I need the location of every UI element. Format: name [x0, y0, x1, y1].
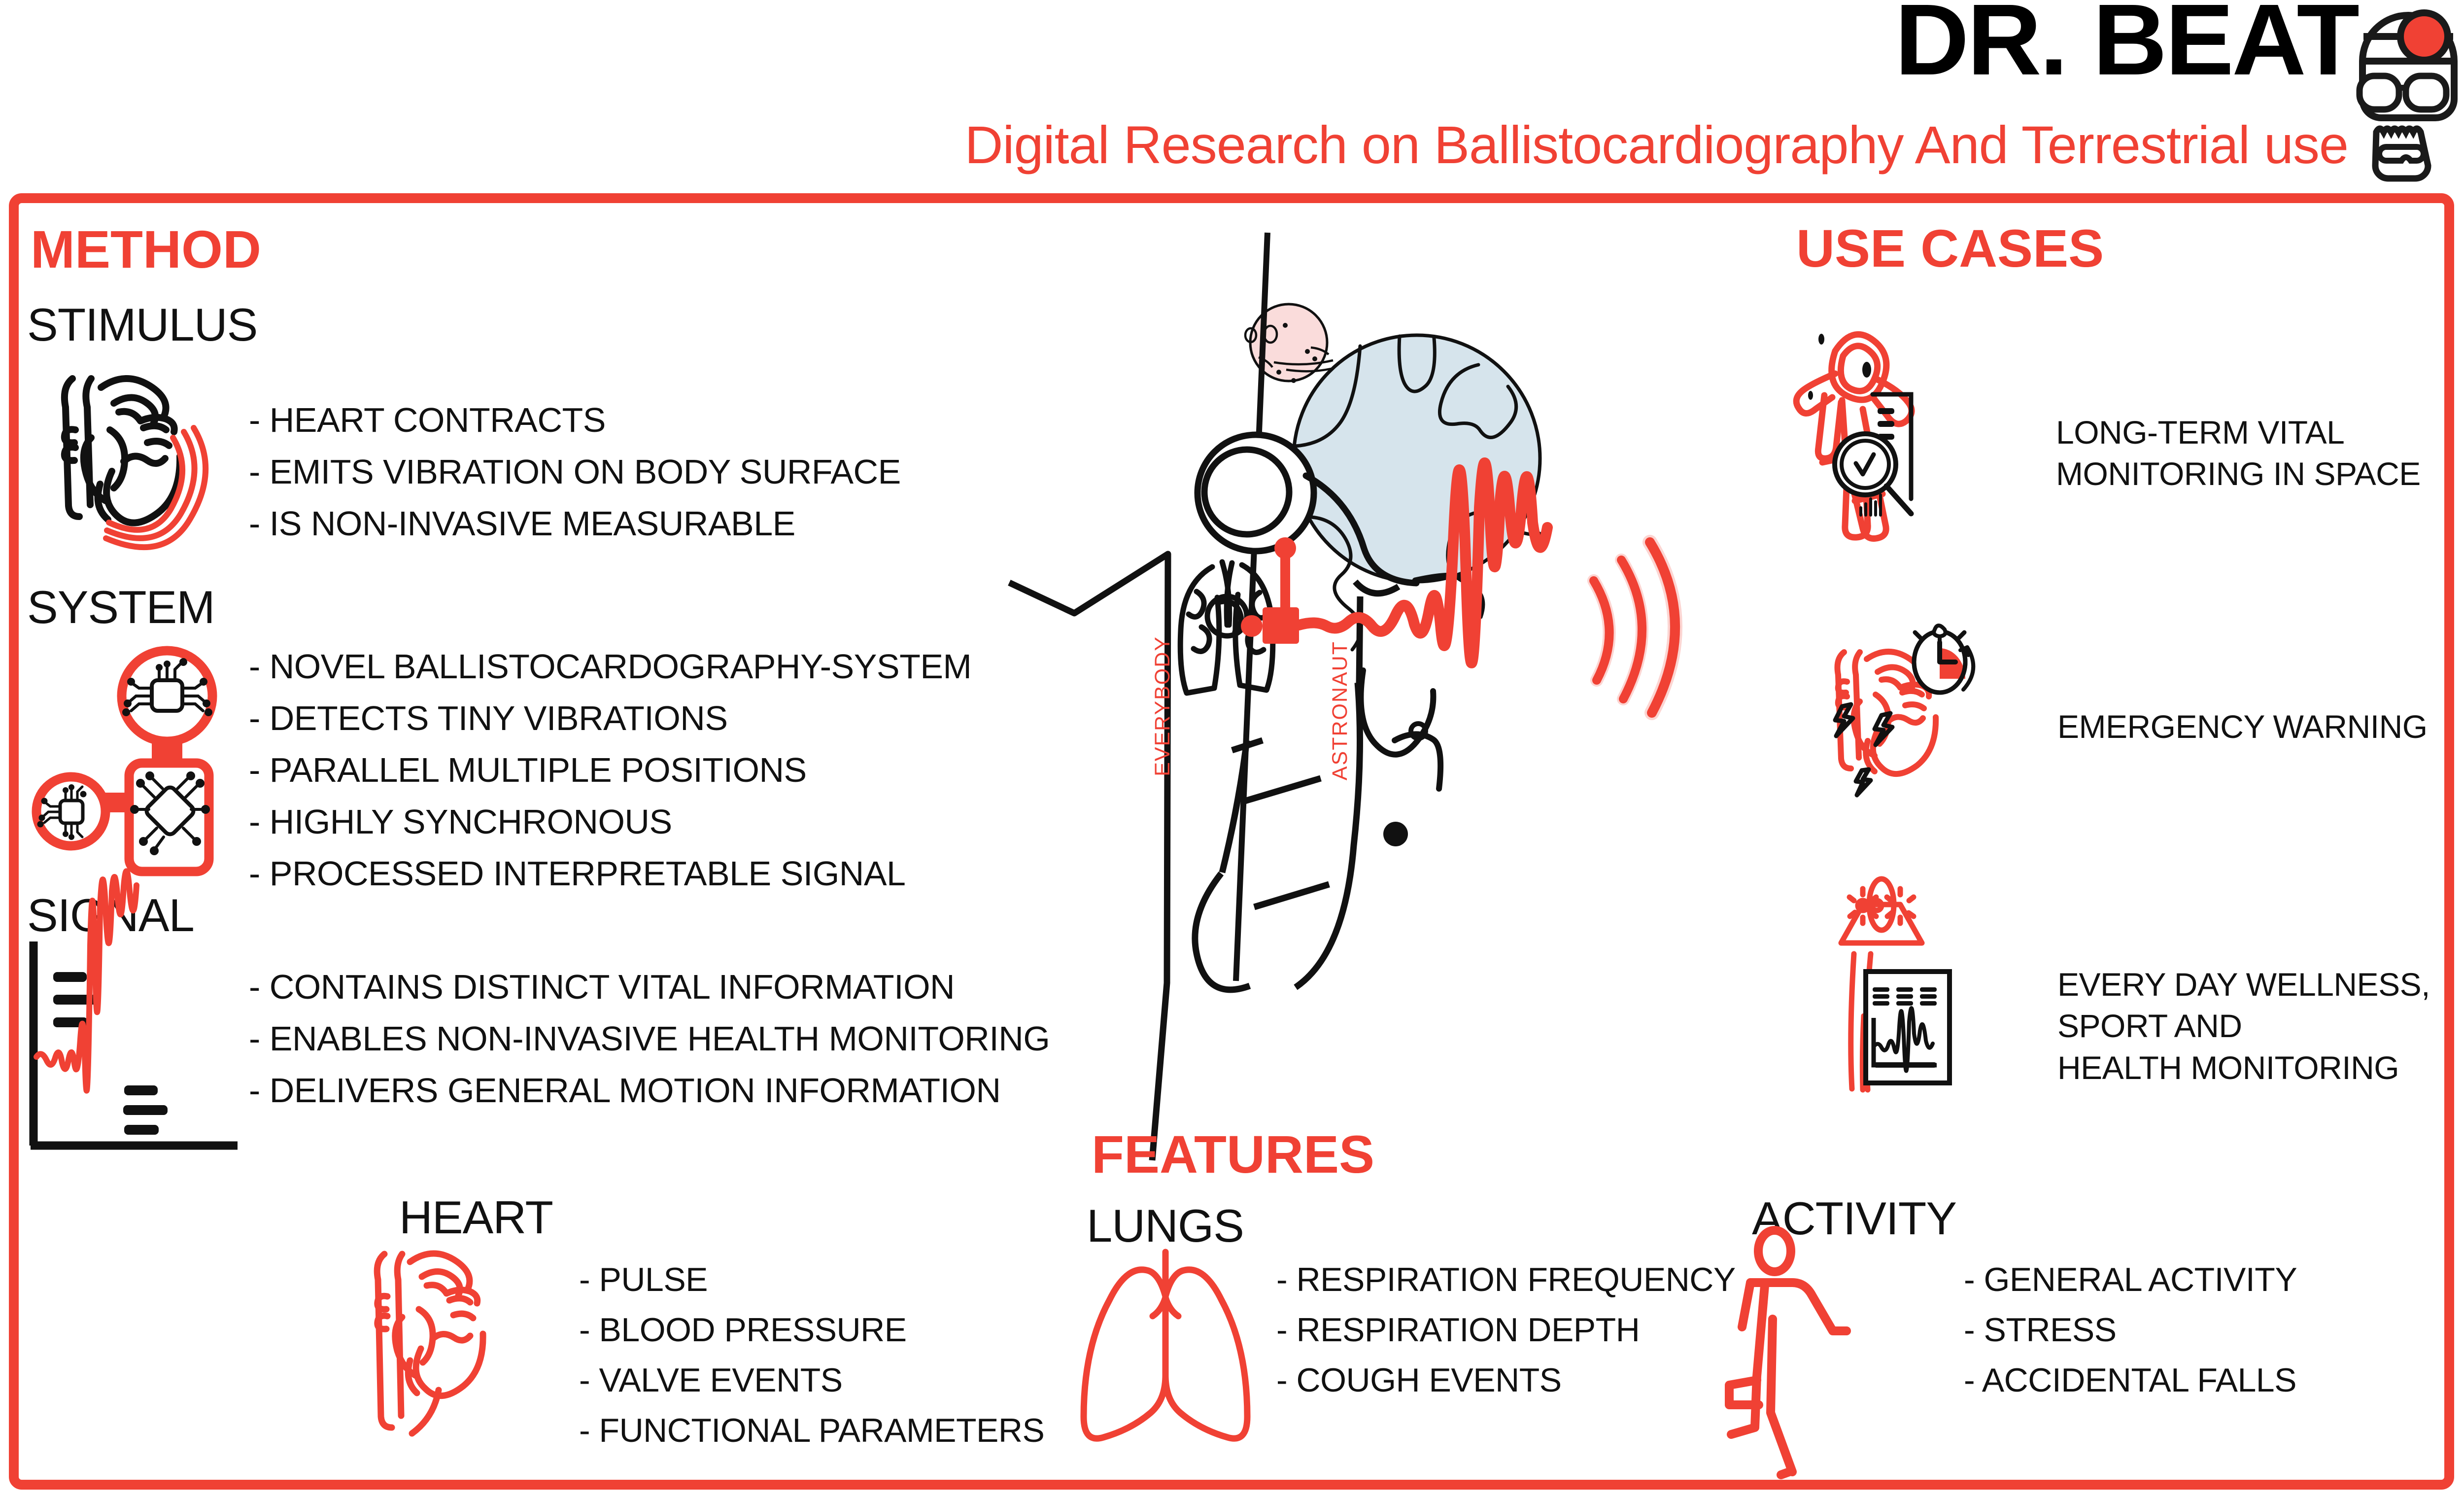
lungs-with-monitor-icon: [1823, 875, 2050, 1092]
anatomical-heart-with-waves-icon: [27, 365, 224, 527]
dr-beat-face-logo: [2357, 3, 2460, 190]
stimulus-bullet-1: - HEART CONTRACTS: [249, 394, 901, 446]
system-bullet-3: - PARALLEL MULTIPLE POSITIONS: [249, 744, 971, 796]
sensor-network-chips-icon: [20, 636, 227, 833]
activity-bullet-1: - GENERAL ACTIVITY: [1964, 1254, 2297, 1305]
signal-bullets: - CONTAINS DISTINCT VITAL INFORMATION - …: [249, 961, 1050, 1116]
features-section-title: FEATURES: [1092, 1128, 1374, 1181]
use-case-1-line-2: MONITORING IN SPACE: [2056, 453, 2421, 494]
infographic-page: DR. BEAT Digital Research on Ballistocar…: [0, 0, 2464, 1498]
page-title: DR. BEAT: [1895, 0, 2358, 90]
use-case-1-line-1: LONG-TERM VITAL: [2056, 412, 2421, 453]
lungs-bullet-3: - COUGH EVENTS: [1276, 1355, 1736, 1405]
activity-bullet-3: - ACCIDENTAL FALLS: [1964, 1355, 2297, 1405]
astronaut-everybody-split-figure: [966, 227, 1804, 1114]
signal-bullet-3: - DELIVERS GENERAL MOTION INFORMATION: [249, 1065, 1050, 1116]
heart-stopwatch-lightning-icon: [1823, 619, 2050, 826]
astronaut-label: ASTRONAUT: [1328, 641, 1352, 780]
system-bullet-1: - NOVEL BALLISTOCARDOGRAPHY-SYSTEM: [249, 641, 971, 693]
heart-bullet-3: - VALVE EVENTS: [579, 1355, 1044, 1405]
lungs-bullet-2: - RESPIRATION DEPTH: [1276, 1305, 1736, 1355]
heart-bullet-1: - PULSE: [579, 1254, 1044, 1305]
stimulus-bullet-3: - IS NON-INVASIVE MEASURABLE: [249, 498, 901, 550]
system-bullets: - NOVEL BALLISTOCARDOGRAPHY-SYSTEM - DET…: [249, 641, 971, 900]
bcg-waveform-chart-icon: [26, 937, 242, 1153]
use-case-1-caption: LONG-TERM VITAL MONITORING IN SPACE: [2056, 412, 2421, 495]
signal-bullet-2: - ENABLES NON-INVASIVE HEALTH MONITORING: [249, 1013, 1050, 1065]
system-heading: SYSTEM: [27, 584, 215, 630]
use-case-3-line-2: SPORT AND: [2057, 1005, 2430, 1046]
heart-feature-bullets: - PULSE - BLOOD PRESSURE - VALVE EVENTS …: [579, 1254, 1044, 1456]
use-cases-section-title: USE CASES: [1796, 222, 2104, 275]
activity-feature-bullets: - GENERAL ACTIVITY - STRESS - ACCIDENTAL…: [1964, 1254, 2297, 1405]
use-case-3-line-3: HEALTH MONITORING: [2057, 1047, 2430, 1088]
method-section-title: METHOD: [31, 223, 261, 276]
astronaut-magnifier-icon: [1794, 311, 2025, 518]
heart-bullet-4: - FUNCTIONAL PARAMETERS: [579, 1405, 1044, 1456]
lungs-feature-heading: LUNGS: [1087, 1203, 1244, 1249]
use-case-2-caption: EMERGENCY WARNING: [2057, 706, 2428, 747]
use-case-3-line-1: EVERY DAY WELLNESS,: [2057, 964, 2430, 1005]
heart-feature-heading: HEART: [399, 1194, 553, 1241]
system-bullet-2: - DETECTS TINY VIBRATIONS: [249, 693, 971, 744]
stimulus-bullet-2: - EMITS VIBRATION ON BODY SURFACE: [249, 446, 901, 498]
activity-bullet-2: - STRESS: [1964, 1305, 2297, 1355]
system-bullet-4: - HIGHLY SYNCHRONOUS: [249, 796, 971, 848]
page-subtitle: Digital Research on Ballistocardiography…: [965, 118, 2348, 172]
lungs-icon: [1072, 1247, 1259, 1454]
lungs-feature-bullets: - RESPIRATION FREQUENCY - RESPIRATION DE…: [1276, 1254, 1736, 1405]
everybody-label: EVERYBODY: [1151, 636, 1175, 776]
use-case-3-caption: EVERY DAY WELLNESS, SPORT AND HEALTH MON…: [2057, 964, 2430, 1088]
anatomical-heart-icon: [365, 1242, 552, 1449]
system-bullet-5: - PROCESSED INTERPRETABLE SIGNAL: [249, 848, 971, 900]
stimulus-bullets: - HEART CONTRACTS - EMITS VIBRATION ON B…: [249, 394, 901, 550]
header: DR. BEAT Digital Research on Ballistocar…: [0, 0, 2464, 192]
walking-person-icon: [1727, 1227, 1934, 1474]
lungs-bullet-1: - RESPIRATION FREQUENCY: [1276, 1254, 1736, 1305]
stimulus-heading: STIMULUS: [27, 302, 257, 348]
heart-bullet-2: - BLOOD PRESSURE: [579, 1305, 1044, 1355]
signal-bullet-1: - CONTAINS DISTINCT VITAL INFORMATION: [249, 961, 1050, 1013]
use-case-2-line-1: EMERGENCY WARNING: [2057, 706, 2428, 747]
